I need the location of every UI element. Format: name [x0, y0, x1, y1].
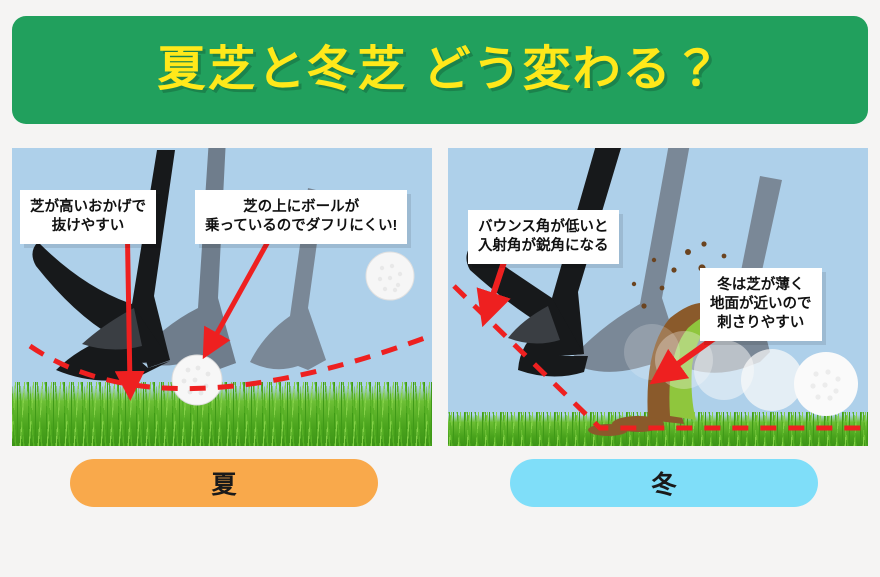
winter-illustration-panel: バウンス角が低いと 入射角が鋭角になる 冬は芝が薄く 地面が近いので 刺さりやす… — [448, 148, 868, 446]
season-button-summer[interactable]: 夏 — [70, 459, 378, 507]
winter-callout-2: 冬は芝が薄く 地面が近いので 刺さりやすい — [700, 268, 822, 341]
summer-illustration-panel: 芝が高いおかげで 抜けやすい 芝の上にボールが 乗っているのでダフリにくい! — [12, 148, 432, 446]
summer-callout-1-line-2: 抜けやすい — [30, 217, 146, 236]
winter-callout-1-line-2: 入射角が鋭角になる — [478, 237, 609, 256]
summer-callout-2-line-1: 芝の上にボールが — [205, 198, 397, 217]
season-button-winter[interactable]: 冬 — [510, 459, 818, 507]
winter-callout-1: バウンス角が低いと 入射角が鋭角になる — [468, 210, 619, 264]
page-title: 夏芝と冬芝 どう変わる？ — [157, 46, 722, 94]
summer-grass — [12, 382, 432, 446]
winter-callout-2-line-2: 地面が近いので — [710, 295, 812, 314]
summer-callout-2: 芝の上にボールが 乗っているのでダフリにくい! — [195, 190, 407, 244]
winter-grass — [448, 412, 868, 446]
infographic-page: { "banner": { "title": "夏芝と冬芝 どう変わる？", "… — [0, 0, 880, 577]
winter-callout-2-line-1: 冬は芝が薄く — [710, 276, 812, 295]
winter-callout-2-line-3: 刺さりやすい — [710, 314, 812, 333]
title-banner: 夏芝と冬芝 どう変わる？ — [12, 16, 868, 124]
summer-callout-2-line-2: 乗っているのでダフリにくい! — [205, 217, 397, 236]
winter-grass-blades — [448, 412, 868, 446]
summer-grass-blades — [12, 382, 432, 446]
summer-callout-1: 芝が高いおかげで 抜けやすい — [20, 190, 156, 244]
season-button-winter-label: 冬 — [651, 465, 676, 501]
winter-callout-1-line-1: バウンス角が低いと — [478, 218, 609, 237]
summer-callout-1-line-1: 芝が高いおかげで — [30, 198, 146, 217]
season-button-summer-label: 夏 — [211, 465, 236, 501]
